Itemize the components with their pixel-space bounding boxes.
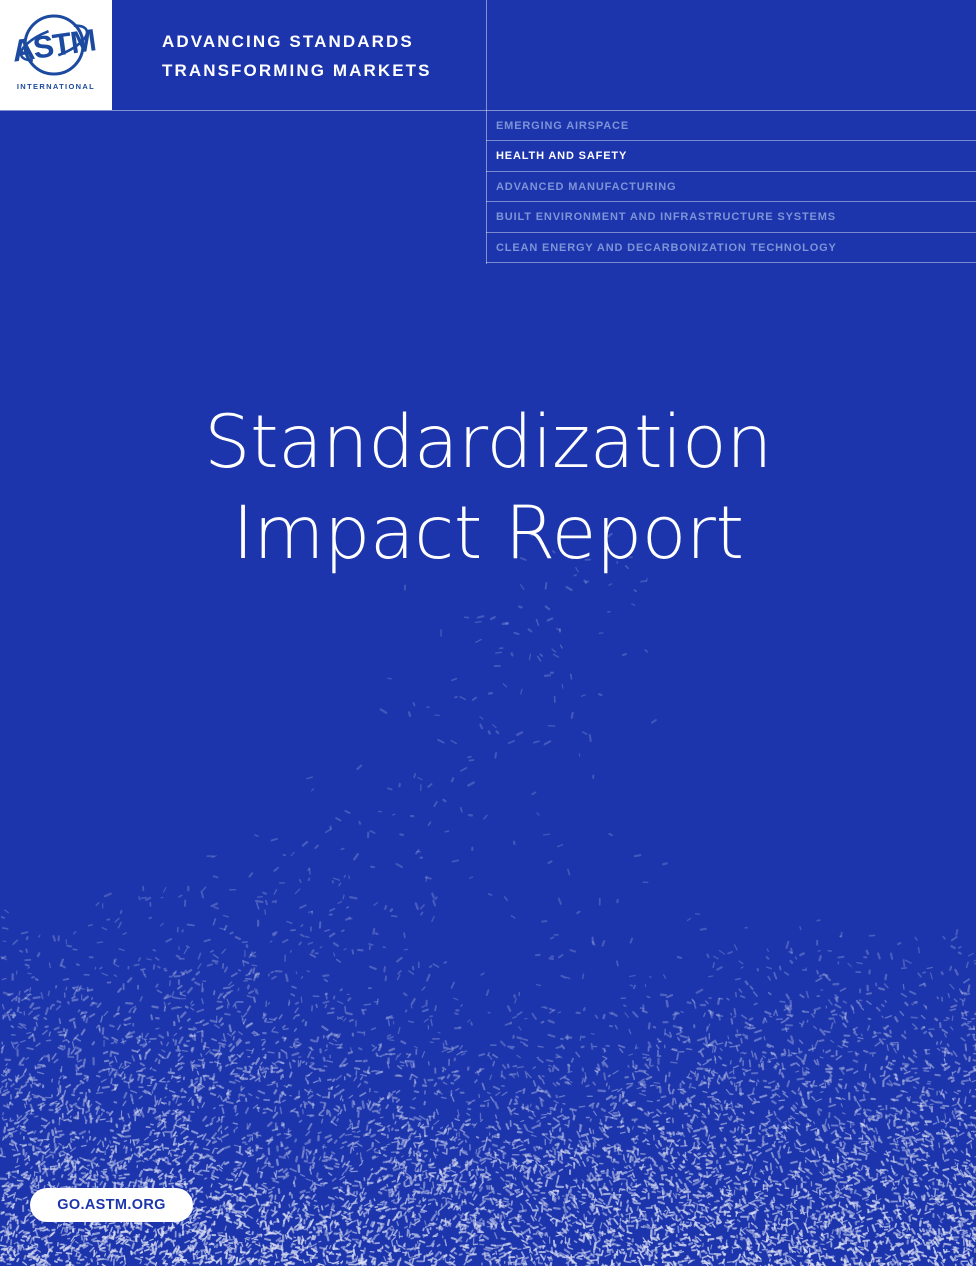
tagline-line-1: ADVANCING STANDARDS — [162, 27, 432, 56]
astm-logo-icon: ASTM — [12, 12, 100, 80]
astm-logo-box: ASTM INTERNATIONAL — [0, 0, 112, 110]
nav-item-advanced-manufacturing[interactable]: ADVANCED MANUFACTURING — [486, 172, 976, 202]
page-title: Standardization Impact Report — [0, 397, 976, 579]
tagline: ADVANCING STANDARDS TRANSFORMING MARKETS — [162, 27, 432, 85]
report-cover-page: ASTM INTERNATIONAL ADVANCING STANDARDS T… — [0, 0, 976, 1266]
page-title-line-1: Standardization — [0, 397, 976, 488]
go-astm-org-label: GO.ASTM.ORG — [57, 1197, 166, 1213]
nav-item-built-environment[interactable]: BUILT ENVIRONMENT AND INFRASTRUCTURE SYS… — [486, 202, 976, 232]
tagline-line-2: TRANSFORMING MARKETS — [162, 56, 432, 85]
nav-item-health-and-safety[interactable]: HEALTH AND SAFETY — [486, 141, 976, 171]
astm-logo-wordmark: INTERNATIONAL — [0, 82, 112, 91]
page-title-line-2: Impact Report — [0, 488, 976, 579]
nav-item-emerging-airspace[interactable]: EMERGING AIRSPACE — [486, 111, 976, 141]
topic-nav: EMERGING AIRSPACE HEALTH AND SAFETY ADVA… — [486, 111, 976, 263]
go-astm-org-badge[interactable]: GO.ASTM.ORG — [30, 1188, 193, 1222]
nav-item-clean-energy[interactable]: CLEAN ENERGY AND DECARBONIZATION TECHNOL… — [486, 233, 976, 263]
